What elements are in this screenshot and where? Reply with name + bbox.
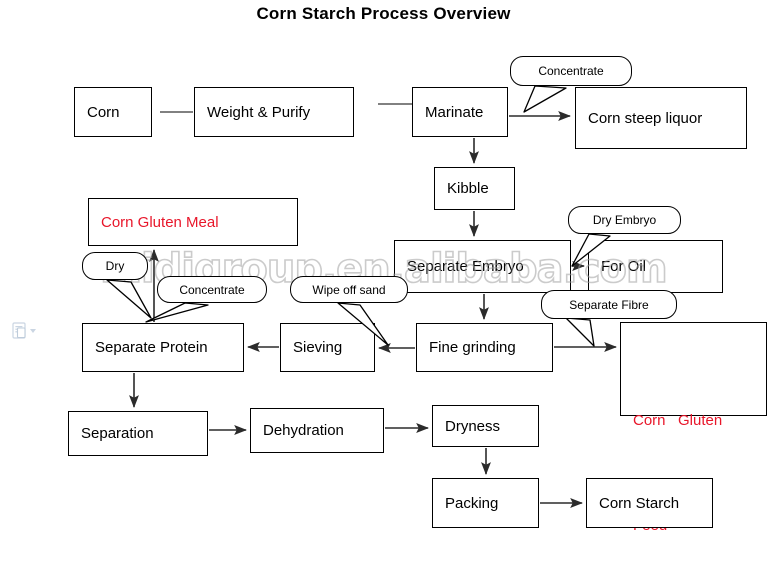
node-corn-gluten-meal-label: Corn Gluten Meal: [101, 214, 219, 231]
node-separation-label: Separation: [81, 425, 154, 442]
callout-dry[interactable]: Dry: [82, 252, 148, 280]
callout-concentrate-top[interactable]: Concentrate: [510, 56, 632, 86]
callout-concentrate-top-label: Concentrate: [538, 64, 603, 78]
node-dryness[interactable]: Dryness: [432, 405, 539, 447]
node-corn-steep-liquor[interactable]: Corn steep liquor: [575, 87, 747, 149]
callout-wipe-off-sand[interactable]: Wipe off sand: [290, 276, 408, 303]
node-weight-purify-label: Weight & Purify: [207, 104, 310, 121]
node-separate-embryo[interactable]: Separate Embryo: [394, 240, 571, 293]
node-weight-purify[interactable]: Weight & Purify: [194, 87, 354, 137]
node-corn-label: Corn: [87, 104, 120, 121]
callout-concentrate-mid-label: Concentrate: [179, 283, 244, 297]
node-separate-embryo-label: Separate Embryo: [407, 258, 524, 275]
callout-dry-label: Dry: [106, 259, 125, 273]
node-dehydration-label: Dehydration: [263, 422, 344, 439]
node-corn-starch-label: Corn Starch: [599, 495, 679, 512]
node-marinate-label: Marinate: [425, 104, 483, 121]
callout-separate-fibre[interactable]: Separate Fibre: [541, 290, 677, 319]
callout-dry-embryo-label: Dry Embryo: [593, 213, 656, 227]
node-corn-steep-liquor-label: Corn steep liquor: [588, 110, 702, 127]
node-fine-grinding[interactable]: Fine grinding: [416, 323, 553, 372]
node-corn-gluten-feed[interactable]: Corn Gluten Feed: [620, 322, 767, 416]
node-corn[interactable]: Corn: [74, 87, 152, 137]
callout-dry-embryo[interactable]: Dry Embryo: [568, 206, 681, 234]
node-corn-gluten-meal[interactable]: Corn Gluten Meal: [88, 198, 298, 246]
node-sieving[interactable]: Sieving: [280, 323, 375, 372]
node-sieving-label: Sieving: [293, 339, 342, 356]
paste-options-icon[interactable]: [12, 322, 38, 345]
node-marinate[interactable]: Marinate: [412, 87, 508, 137]
node-packing[interactable]: Packing: [432, 478, 539, 528]
node-separation[interactable]: Separation: [68, 411, 208, 456]
callout-concentrate-mid[interactable]: Concentrate: [157, 276, 267, 303]
node-kibble[interactable]: Kibble: [434, 167, 515, 210]
flowchart-canvas: Corn Starch Process Overview: [0, 0, 767, 573]
page-title: Corn Starch Process Overview: [0, 4, 767, 24]
node-corn-gluten-feed-label-line1: Corn Gluten: [633, 403, 766, 438]
node-dehydration[interactable]: Dehydration: [250, 408, 384, 453]
node-fine-grinding-label: Fine grinding: [429, 339, 516, 356]
callout-wipe-off-sand-label: Wipe off sand: [312, 283, 385, 297]
node-separate-protein[interactable]: Separate Protein: [82, 323, 244, 372]
node-dryness-label: Dryness: [445, 418, 500, 435]
node-separate-protein-label: Separate Protein: [95, 339, 208, 356]
node-kibble-label: Kibble: [447, 180, 489, 197]
callout-separate-fibre-label: Separate Fibre: [569, 298, 648, 312]
node-for-oil-label: For Oil: [601, 258, 646, 275]
node-packing-label: Packing: [445, 495, 498, 512]
node-for-oil[interactable]: For Oil: [588, 240, 723, 293]
node-corn-starch[interactable]: Corn Starch: [586, 478, 713, 528]
